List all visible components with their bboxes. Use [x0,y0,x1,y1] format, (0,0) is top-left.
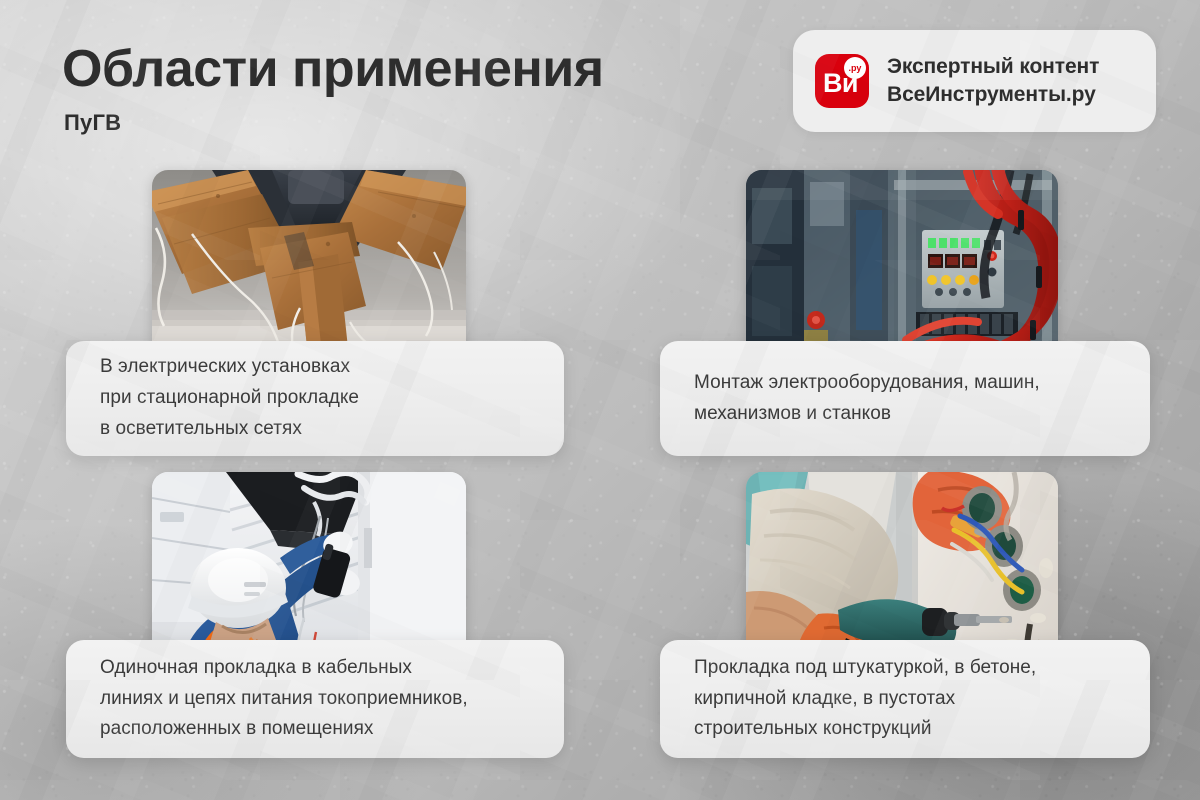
logo-ru-badge: .ру [844,57,866,79]
text-card-3: Одиночная прокладка в кабельных линиях и… [66,640,564,758]
text-card-2: Монтаж электрооборудования, машин, механ… [660,341,1150,456]
vseinstrumenty-logo-icon: Ви .ру [815,54,869,108]
card-2-text: Монтаж электрооборудования, машин, механ… [694,368,1040,430]
page-title: Области применения [62,42,604,97]
brand-badge: Ви .ру Экспертный контент ВсеИнструменты… [793,30,1156,132]
brand-line-1: Экспертный контент [887,54,1099,80]
brand-text-block: Экспертный контент ВсеИнструменты.ру [887,54,1099,108]
text-card-4: Прокладка под штукатуркой, в бетоне, кир… [660,640,1150,758]
card-4-text: Прокладка под штукатуркой, в бетоне, кир… [694,653,1036,745]
brand-line-2: ВсеИнструменты.ру [887,82,1099,108]
page-subtitle: ПуГВ [64,110,121,136]
card-3-text: Одиночная прокладка в кабельных линиях и… [100,653,468,745]
infographic-canvas: Области применения ПуГВ Ви .ру Экспертны… [0,0,1200,800]
card-1-text: В электрических установках при стационар… [100,352,359,444]
text-card-1: В электрических установках при стационар… [66,341,564,456]
